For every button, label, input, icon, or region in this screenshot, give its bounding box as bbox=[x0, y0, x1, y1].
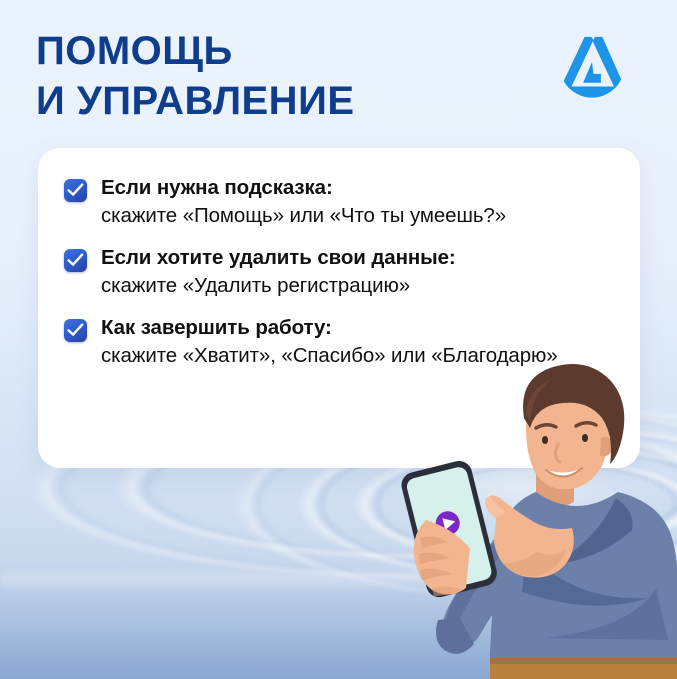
list-item-heading: Если хотите удалить свои данные: bbox=[101, 244, 456, 272]
list-item: Если нужна подсказка: скажите «Помощь» и… bbox=[64, 174, 610, 230]
list-item-text: Если хотите удалить свои данные: скажите… bbox=[101, 244, 456, 300]
list-item-body: скажите «Помощь» или «Что ты умеешь?» bbox=[101, 202, 506, 230]
poster-header: ПОМОЩЬ И УПРАВЛЕНИЕ bbox=[36, 26, 647, 126]
list-item-text: Если нужна подсказка: скажите «Помощь» и… bbox=[101, 174, 506, 230]
tips-list: Если нужна подсказка: скажите «Помощь» и… bbox=[64, 174, 610, 370]
check-icon bbox=[64, 179, 87, 202]
check-icon bbox=[64, 249, 87, 272]
list-item: Если хотите удалить свои данные: скажите… bbox=[64, 244, 610, 300]
page-title: ПОМОЩЬ И УПРАВЛЕНИЕ bbox=[36, 26, 355, 126]
list-item-heading: Как завершить работу: bbox=[101, 314, 558, 342]
man-holding-phone-illustration bbox=[386, 352, 677, 679]
list-item-heading: Если нужна подсказка: bbox=[101, 174, 506, 202]
check-icon bbox=[64, 319, 87, 342]
poster-root: ПОМОЩЬ И УПРАВЛЕНИЕ bbox=[0, 0, 677, 679]
triangle-a-logo-icon bbox=[555, 28, 629, 102]
list-item-body: скажите «Удалить регистрацию» bbox=[101, 272, 456, 300]
